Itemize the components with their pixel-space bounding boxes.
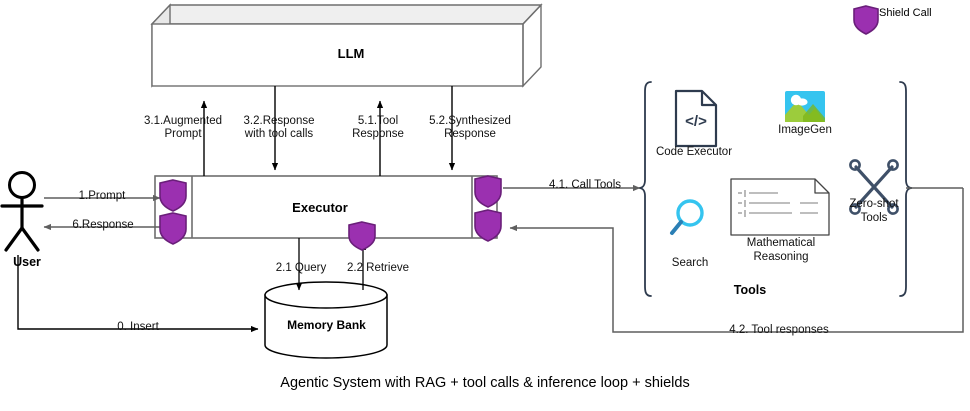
edge-label-tool-responses: 4.2. Tool responses [714, 324, 844, 337]
user-actor[interactable] [2, 173, 42, 251]
shield-icon-memory [349, 222, 375, 250]
image-icon[interactable] [785, 91, 825, 122]
edge-label-call-tools: 4.1. Call Tools [535, 179, 635, 192]
formula-document-icon[interactable] [731, 179, 829, 235]
edge-label-insert: 0. Insert [95, 321, 181, 334]
svg-text:</>: </> [685, 113, 707, 130]
tool-label-code-executor: Code Executor [648, 146, 740, 160]
llm-label: LLM [155, 46, 547, 61]
executor-label: Executor [170, 200, 470, 215]
legend-shield-icon [854, 6, 878, 34]
memory-bank-label: Memory Bank [264, 318, 389, 332]
edge-label-query: 2.1 Query [265, 262, 337, 275]
magnifier-icon[interactable] [672, 201, 702, 233]
user-label: User [0, 255, 54, 269]
edge-label-retrieve: 2.2 Retrieve [336, 262, 420, 275]
edge-label-prompt: 1.Prompt [62, 190, 142, 203]
edge-insert [18, 255, 258, 329]
tool-label-zero-shot-tools: Zero-shot Tools [840, 198, 908, 225]
edge-label-response: 6.Response [58, 219, 148, 232]
tool-label-search: Search [660, 257, 720, 271]
tools-group-label: Tools [700, 283, 800, 297]
shield-icon-response-out [160, 213, 186, 244]
diagram-canvas: </> [0, 0, 970, 411]
edge-label-synthesized-response: 5.2.Synthesized Response [420, 115, 520, 141]
edge-label-response-with-tool-calls: 3.2.Response with tool calls [232, 115, 326, 141]
edge-label-tool-response: 5.1.Tool Response [341, 115, 415, 141]
tool-label-math-reasoning: Mathematical Reasoning [733, 237, 829, 264]
legend-shield-label: Shield Call [879, 7, 932, 19]
tool-label-imagegen: ImageGen [768, 124, 842, 138]
diagram-caption: Agentic System with RAG + tool calls & i… [0, 375, 970, 391]
edge-label-augmented-prompt: 3.1.Augmented Prompt [141, 115, 225, 141]
code-document-icon[interactable]: </> [676, 91, 716, 146]
diagram-vector-layer: </> [0, 0, 970, 411]
